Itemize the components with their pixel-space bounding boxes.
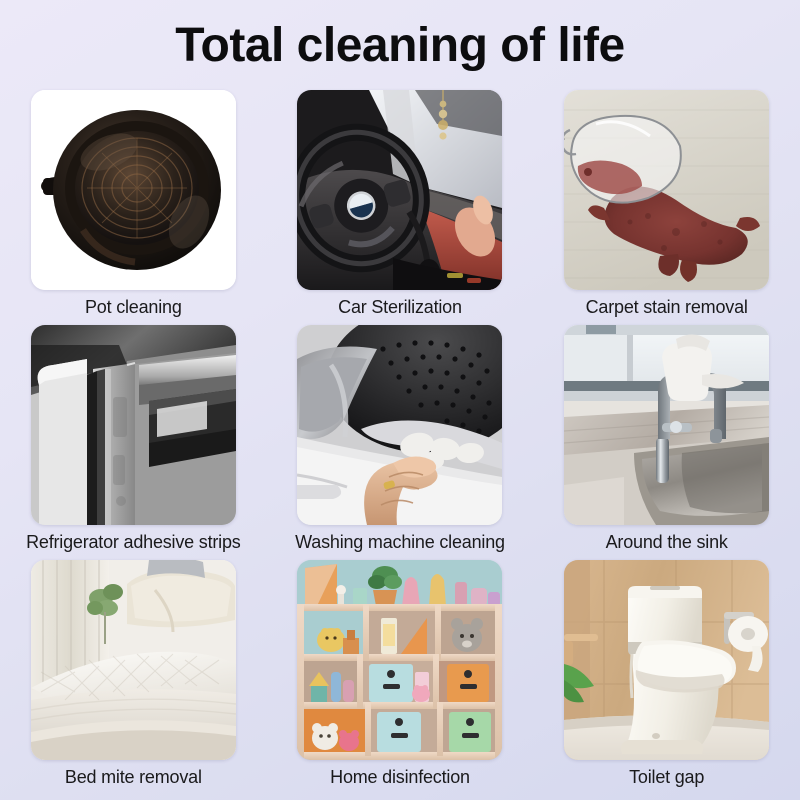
tile-image-pot-cleaning[interactable] <box>31 90 236 290</box>
washing-machine-illustration <box>297 325 502 525</box>
car-sterilization-illustration <box>297 90 502 290</box>
feature-cell-around-the-sink[interactable]: Around the sink <box>533 325 800 560</box>
sink-illustration <box>564 325 769 525</box>
tile-image-home-disinfection[interactable] <box>297 560 502 760</box>
feature-cell-carpet-stain-removal[interactable]: Carpet stain removal <box>533 90 800 325</box>
pot-cleaning-illustration <box>31 90 236 290</box>
shelving-illustration <box>297 560 502 760</box>
tile-image-washing-machine-cleaning[interactable] <box>297 325 502 525</box>
tile-caption: Bed mite removal <box>65 767 202 788</box>
feature-cell-washing-machine-cleaning[interactable]: Washing machine cleaning <box>267 325 534 560</box>
tile-image-around-the-sink[interactable] <box>564 325 769 525</box>
page-title: Total cleaning of life <box>0 0 800 70</box>
feature-grid: Pot cleaning <box>0 90 800 795</box>
refrigerator-strips-illustration <box>31 325 236 525</box>
infographic-page: Total cleaning of life <box>0 0 800 800</box>
tile-caption: Home disinfection <box>330 767 470 788</box>
tile-image-refrigerator-adhesive-strips[interactable] <box>31 325 236 525</box>
tile-image-car-sterilization[interactable] <box>297 90 502 290</box>
feature-cell-pot-cleaning[interactable]: Pot cleaning <box>0 90 267 325</box>
feature-cell-refrigerator-adhesive-strips[interactable]: Refrigerator adhesive strips <box>0 325 267 560</box>
tile-caption: Around the sink <box>606 532 728 553</box>
toilet-illustration <box>564 560 769 760</box>
feature-cell-car-sterilization[interactable]: Car Sterilization <box>267 90 534 325</box>
tile-caption: Pot cleaning <box>85 297 182 318</box>
tile-caption: Toilet gap <box>629 767 704 788</box>
tile-image-bed-mite-removal[interactable] <box>31 560 236 760</box>
mattress-illustration <box>31 560 236 760</box>
carpet-stain-illustration <box>564 90 769 290</box>
tile-caption: Carpet stain removal <box>586 297 748 318</box>
tile-caption: Washing machine cleaning <box>295 532 505 553</box>
tile-image-carpet-stain-removal[interactable] <box>564 90 769 290</box>
tile-caption: Car Sterilization <box>338 297 462 318</box>
feature-cell-toilet-gap[interactable]: Toilet gap <box>533 560 800 795</box>
tile-image-toilet-gap[interactable] <box>564 560 769 760</box>
tile-caption: Refrigerator adhesive strips <box>26 532 241 553</box>
feature-cell-home-disinfection[interactable]: Home disinfection <box>267 560 534 795</box>
feature-cell-bed-mite-removal[interactable]: Bed mite removal <box>0 560 267 795</box>
